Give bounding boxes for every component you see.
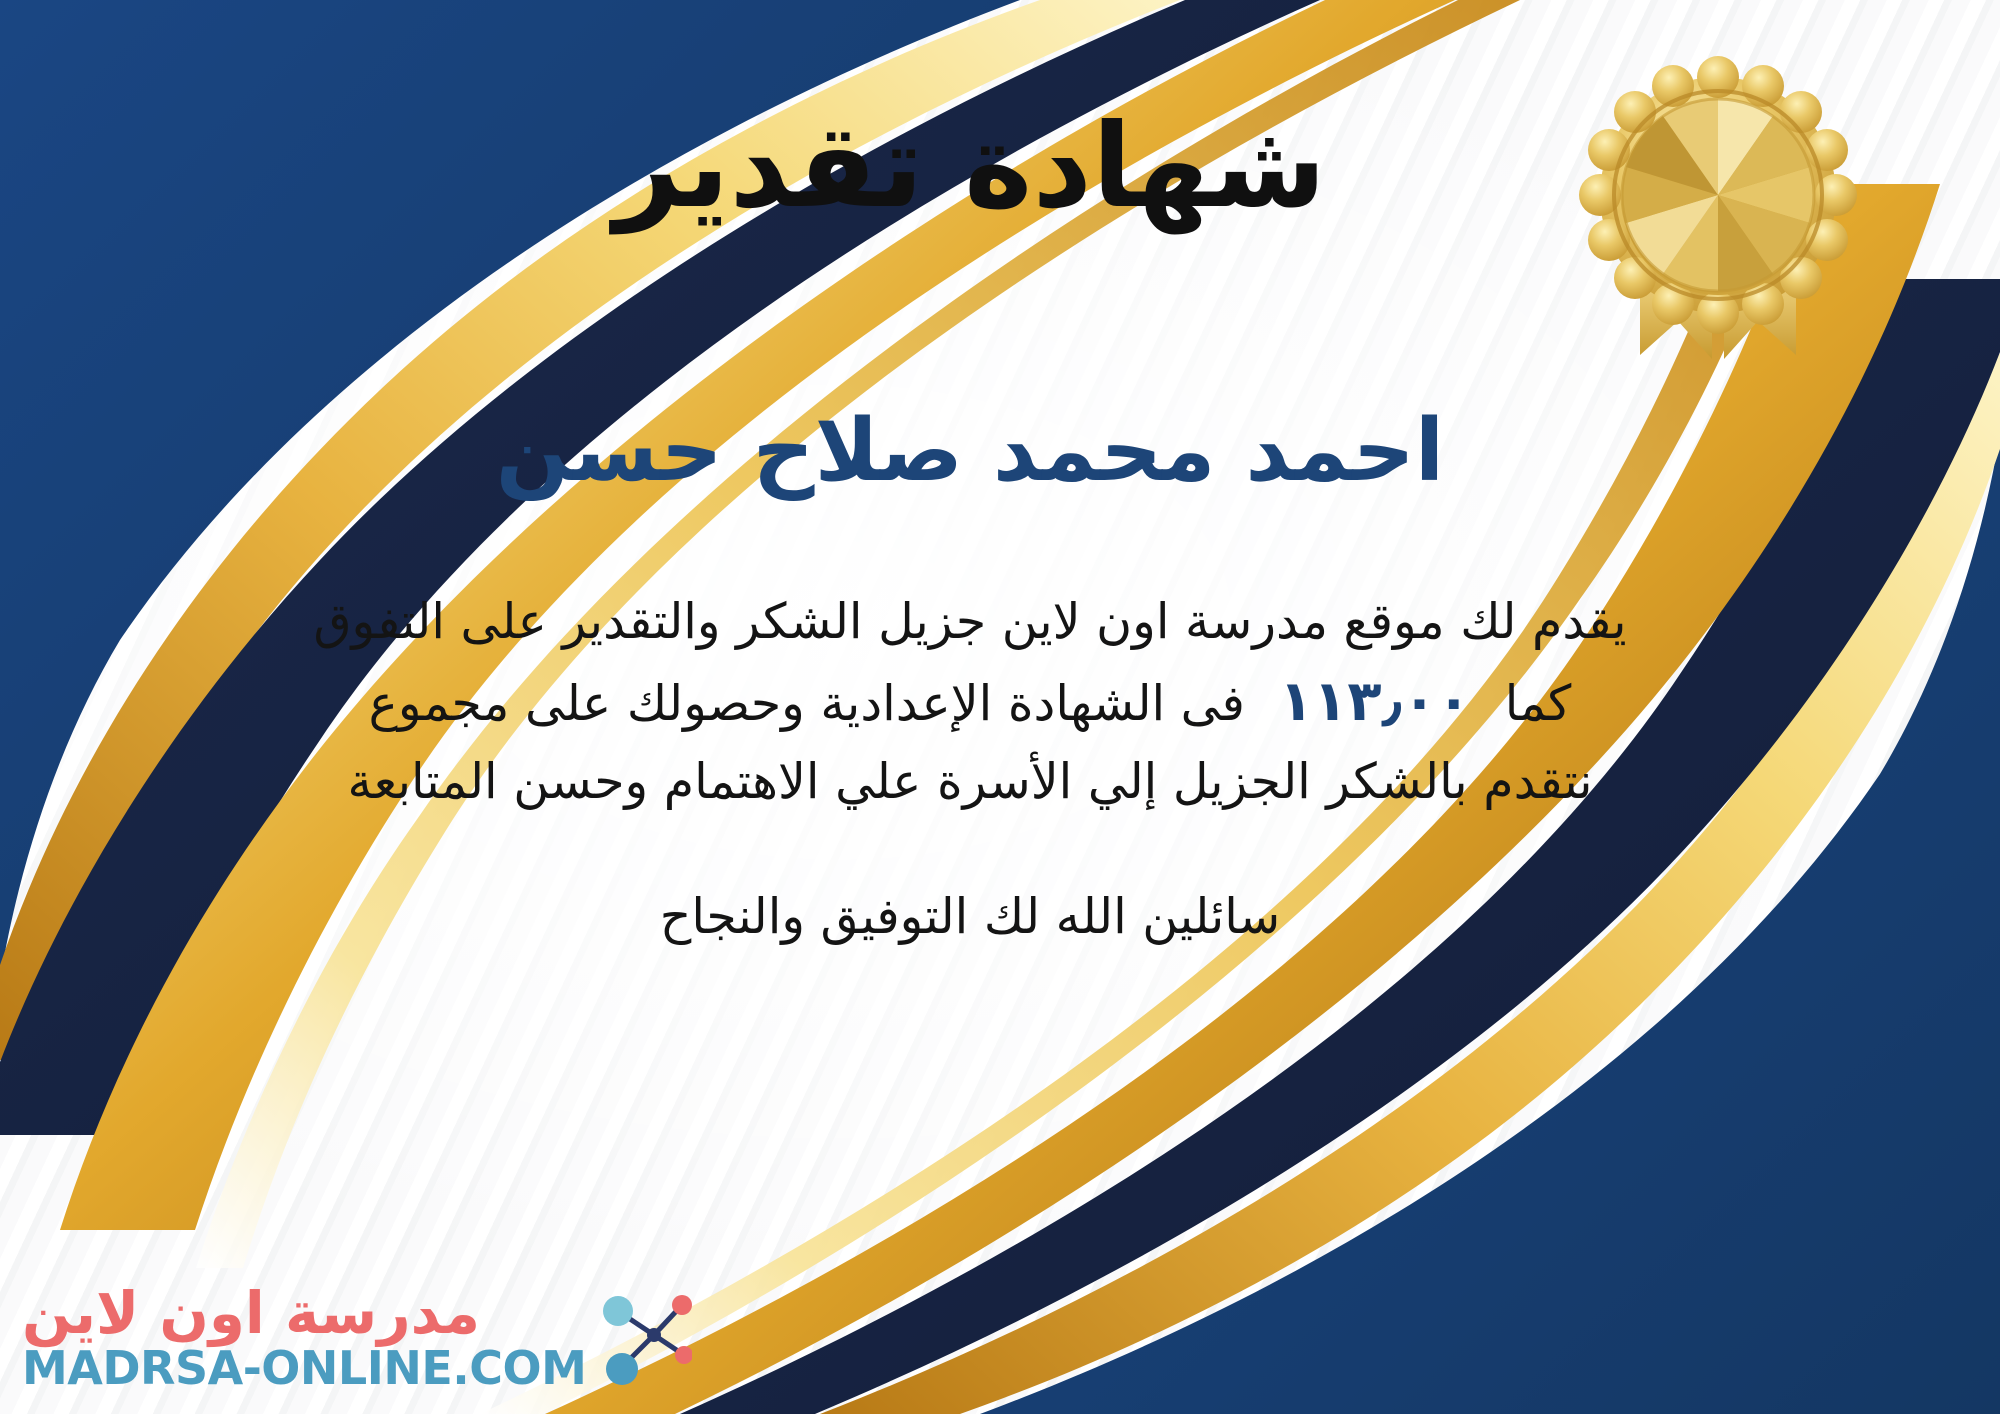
body-line-2-prefix: فى الشهادة الإعدادية وحصولك على مجموع [369,667,1245,741]
brand-logo[interactable]: مدرسة اون لاين MADRSA-ONLINE.COM [22,1283,692,1394]
certificate-canvas: شهادة تقدير احمد محمد صلاح حسن يقدم لك م… [0,0,2000,1414]
brand-text-group: مدرسة اون لاين MADRSA-ONLINE.COM [22,1283,586,1394]
page-title: شهادة تقدير [60,100,1880,233]
grade-total-value: ١١٣٫٠٠ [1245,659,1505,744]
body-line-3: نتقدم بالشكر الجزيل إلي الأسرة علي الاهت… [90,745,1850,819]
closing-blessing-line: سائلين الله لك التوفيق والنجاح [60,880,1880,954]
certificate-content: شهادة تقدير احمد محمد صلاح حسن يقدم لك م… [60,0,1880,1414]
body-line-1: يقدم لك موقع مدرسة اون لاين جزيل الشكر و… [90,585,1850,659]
brand-website-url[interactable]: MADRSA-ONLINE.COM [22,1343,586,1394]
brand-arabic-name: مدرسة اون لاين [22,1283,480,1344]
certificate-body: يقدم لك موقع مدرسة اون لاين جزيل الشكر و… [90,585,1850,819]
network-nodes-icon [596,1283,692,1393]
body-line-2: كما ١١٣٫٠٠ فى الشهادة الإعدادية وحصولك ع… [90,659,1850,744]
recipient-name: احمد محمد صلاح حسن [60,400,1880,503]
body-line-2-suffix: كما [1505,667,1572,741]
